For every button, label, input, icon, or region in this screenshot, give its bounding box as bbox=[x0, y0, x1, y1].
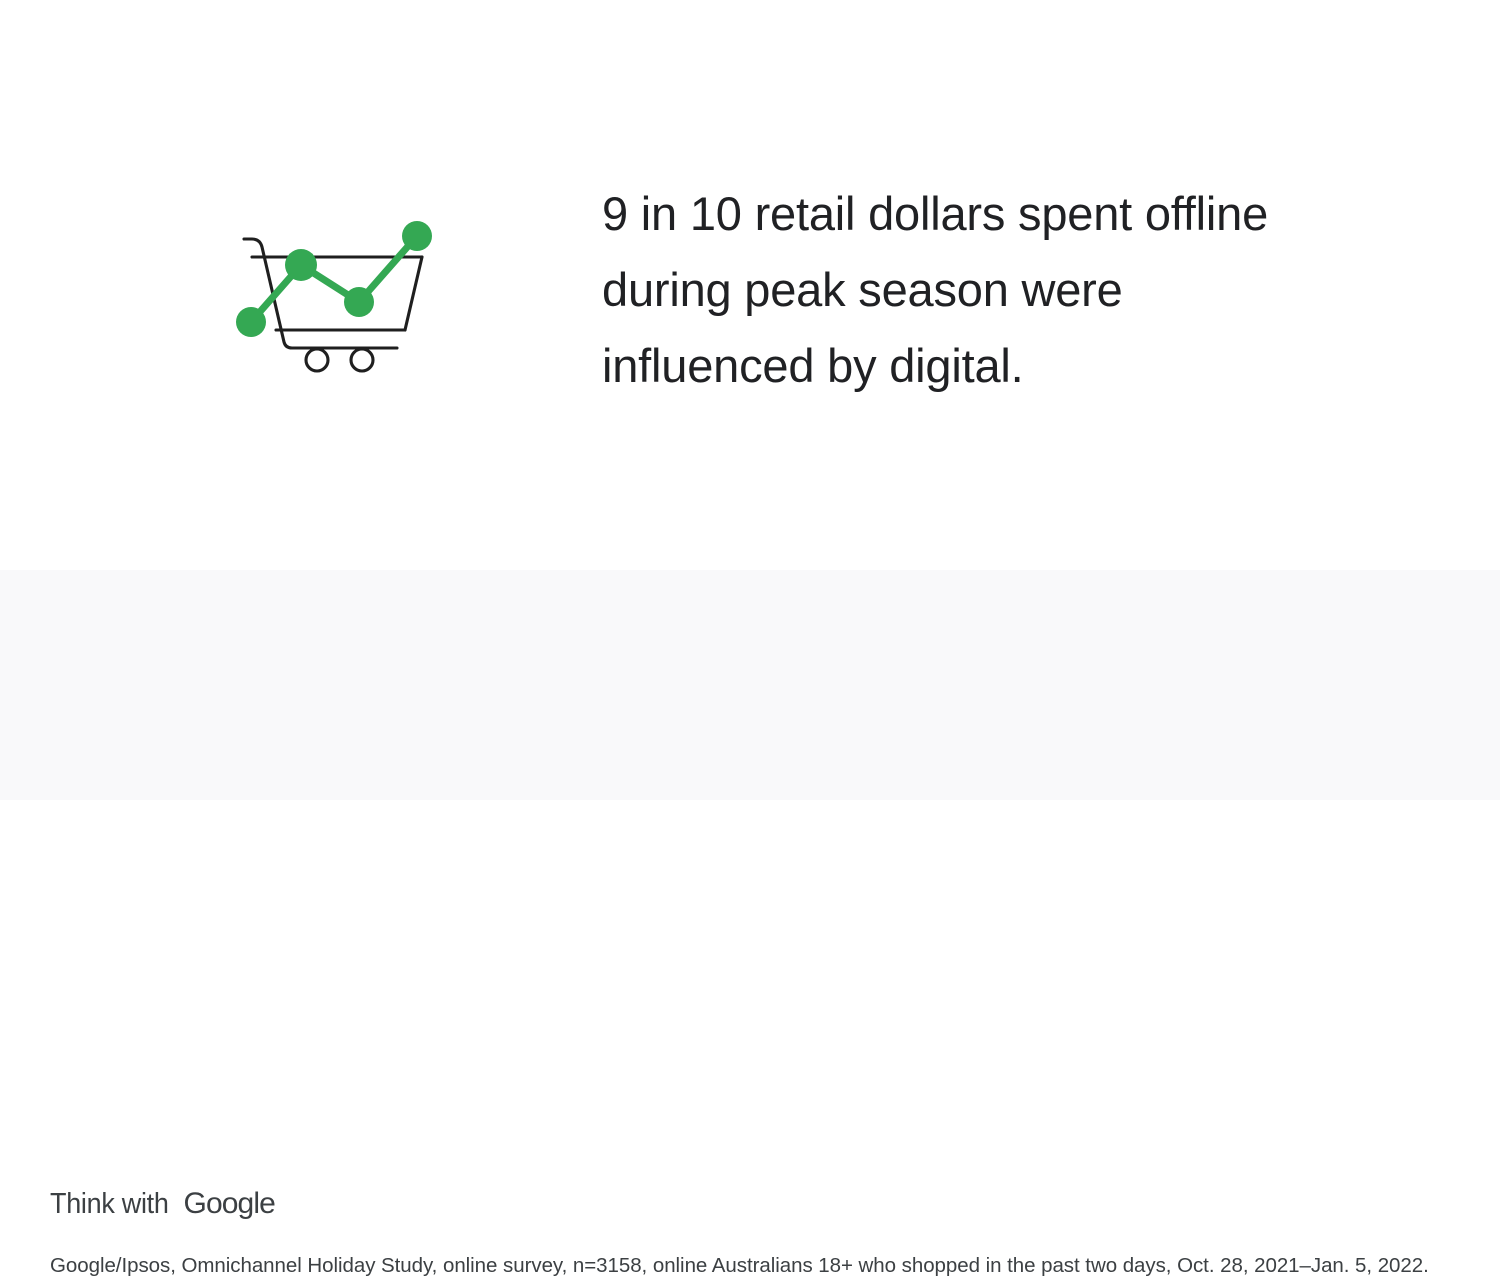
source-citation: Google/Ipsos, Omnichannel Holiday Study,… bbox=[50, 1246, 1430, 1285]
trend-point-2 bbox=[285, 249, 317, 281]
think-with-google-logo: Think with Google bbox=[50, 1187, 275, 1221]
footer-section: Think with Google Google/Ipsos, Omnichan… bbox=[0, 570, 1500, 800]
cart-wheels bbox=[306, 349, 373, 371]
cart-wheel-right bbox=[351, 349, 373, 371]
trend-data-points bbox=[236, 221, 432, 337]
cart-wheel-left bbox=[306, 349, 328, 371]
trend-point-1 bbox=[236, 307, 266, 337]
stat-card: 9 in 10 retail dollars spent offline dur… bbox=[0, 0, 1500, 800]
google-wordmark: Google bbox=[184, 1187, 275, 1221]
cart-outline bbox=[244, 239, 422, 348]
page-title: 9 in 10 retail dollars spent offline dur… bbox=[602, 176, 1402, 404]
cart-trendline-svg bbox=[222, 212, 452, 382]
headline-block: 9 in 10 retail dollars spent offline dur… bbox=[602, 176, 1402, 404]
hero-section: 9 in 10 retail dollars spent offline dur… bbox=[0, 0, 1500, 570]
trend-point-3 bbox=[344, 287, 374, 317]
brand-prefix: Think with bbox=[50, 1188, 169, 1221]
shopping-cart-with-trendline-icon bbox=[222, 212, 452, 382]
trend-point-4 bbox=[402, 221, 432, 251]
